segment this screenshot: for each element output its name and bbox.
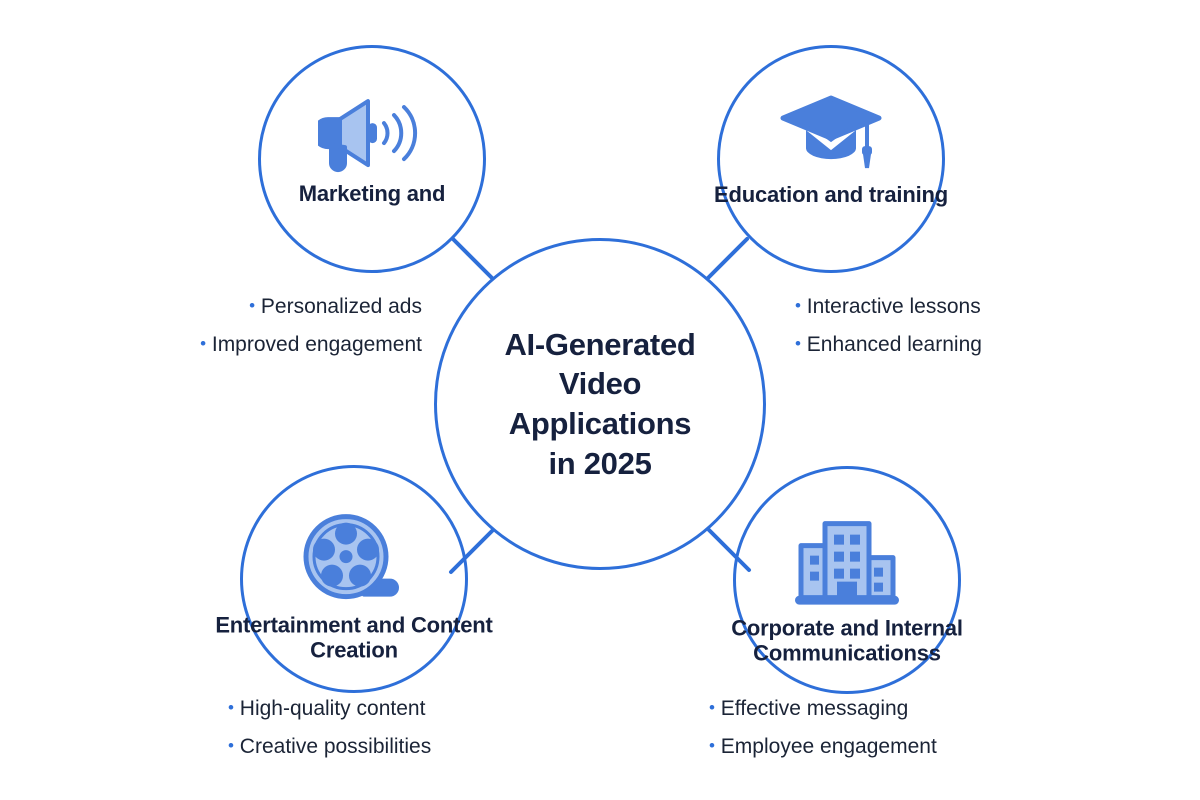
hub-title-line-4: in 2025 [548, 446, 651, 481]
node-corporate[interactable]: Corporate and Internal Communicationss [733, 466, 961, 694]
node-entertainment-content: Entertainment and Content Creation [204, 513, 504, 664]
node-education-content: Education and training [681, 92, 981, 208]
list-item: • Creative possibilities [228, 728, 431, 766]
infographic-canvas: AI-Generated Video Applications in 2025 [0, 0, 1200, 800]
list-item: • Personalized ads [200, 288, 422, 326]
node-entertainment-label: Entertainment and Content Creation [204, 614, 504, 664]
list-item-text: Creative possibilities [240, 735, 431, 758]
bullet-dot-icon: • [228, 698, 234, 717]
list-item-text: High-quality content [240, 697, 426, 720]
bullets-entertainment: • High-quality content • Creative possib… [228, 690, 431, 766]
node-marketing-content: Marketing and [222, 93, 522, 207]
list-item-text: Effective messaging [721, 697, 909, 720]
graduation-cap-icon [779, 92, 883, 179]
film-reel-icon [302, 513, 406, 610]
hub-title-line-1: AI-Generated [504, 327, 695, 362]
list-item-text: Personalized ads [261, 295, 422, 318]
bullets-corporate: • Effective messaging • Employee engagem… [709, 690, 937, 766]
list-item: • High-quality content [228, 690, 431, 728]
bullet-dot-icon: • [795, 296, 801, 315]
center-hub-title: AI-Generated Video Applications in 2025 [465, 325, 735, 484]
list-item: • Effective messaging [709, 690, 937, 728]
node-marketing[interactable]: Marketing and [258, 45, 486, 273]
megaphone-icon [318, 93, 426, 178]
list-item: • Interactive lessons [795, 288, 982, 326]
office-building-icon [791, 516, 903, 613]
bullet-dot-icon: • [200, 334, 206, 353]
bullets-education: • Interactive lessons • Enhanced learnin… [795, 288, 982, 364]
list-item: • Employee engagement [709, 728, 937, 766]
node-corporate-label: Corporate and Internal Communicationss [697, 617, 997, 667]
bullet-dot-icon: • [709, 698, 715, 717]
list-item-text: Interactive lessons [807, 295, 981, 318]
hub-title-line-2: Video [559, 366, 641, 401]
node-education[interactable]: Education and training [717, 45, 945, 273]
bullet-dot-icon: • [228, 736, 234, 755]
node-education-label: Education and training [714, 183, 948, 208]
bullet-dot-icon: • [795, 334, 801, 353]
list-item-text: Employee engagement [721, 735, 937, 758]
bullet-dot-icon: • [249, 296, 255, 315]
node-marketing-label: Marketing and [299, 182, 446, 207]
bullet-dot-icon: • [709, 736, 715, 755]
list-item-text: Improved engagement [212, 333, 422, 356]
hub-title-line-3: Applications [509, 406, 691, 441]
center-hub: AI-Generated Video Applications in 2025 [434, 238, 766, 570]
node-corporate-content: Corporate and Internal Communicationss [697, 516, 997, 667]
list-item: • Improved engagement [200, 326, 422, 364]
node-entertainment[interactable]: Entertainment and Content Creation [240, 465, 468, 693]
list-item: • Enhanced learning [795, 326, 982, 364]
list-item-text: Enhanced learning [807, 333, 982, 356]
bullets-marketing: • Personalized ads • Improved engagement [200, 288, 422, 364]
